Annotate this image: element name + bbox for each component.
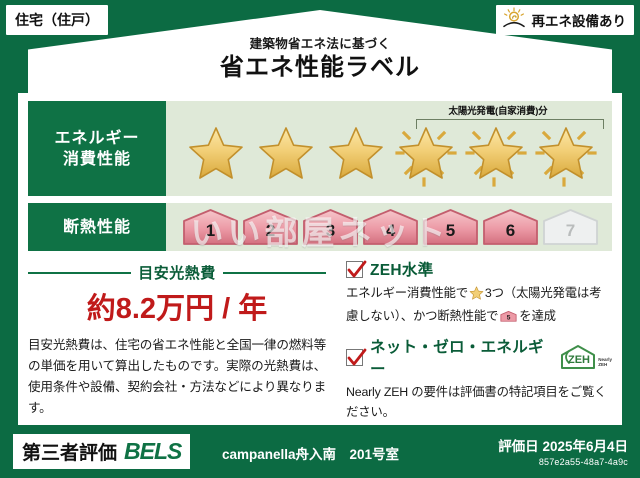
insulation-level: 5 [421,208,480,247]
net-zero-energy-title: ネット・ゼロ・エネルギー [370,335,548,379]
svg-text:ZEH: ZEH [568,354,590,366]
renewable-equipment-badge: 再エネ設備あり [496,5,635,35]
net-zero-energy-desc: Nearly ZEH の要件は評価書の特記項目をご覧ください。 [346,382,612,422]
evaluation-info: 評価日 2025年6月4日 857e2a55-48a7-4a9c [498,435,628,467]
star-filled [322,117,390,187]
property-name: campanella舟入南 201号室 [222,443,399,463]
zeh-logo-caption-line2: ZEH [598,362,607,367]
utility-cost-value: 約8.2万円 / 年 [28,289,326,329]
star-rating [182,117,600,187]
zeh-block: ZEH水準 エネルギー消費性能で3つ（太陽光発電は考慮しない）、かつ断熱性能で5… [334,258,612,416]
energy-performance-row: エネルギー 消費性能 太陽光発電(自家消費)分 [28,101,612,196]
label-lower-section: 目安光熱費 約8.2万円 / 年 目安光熱費は、住宅の省エネ性能と全国一律の燃料… [28,258,612,416]
insulation-badge-icon: 5 [500,313,517,327]
divider-left [28,272,131,274]
net-zero-energy-item: ネット・ゼロ・エネルギー ZEH Nearly ZEH [346,335,612,422]
energy-performance-label: 住宅（住戸） 再エネ設備あり [0,0,640,478]
zeh-logo-caption: Nearly ZEH [598,357,612,370]
insulation-level: 2 [241,208,300,247]
insulation-level: 3 [301,208,360,247]
star-icon [469,289,484,303]
divider-right [223,272,326,274]
insulation-performance-row: 断熱性能 1 [28,203,612,251]
dwelling-type-label: 住宅（住戸） [15,10,99,30]
check-icon [346,349,363,366]
zeh-standard-title: ZEH水準 [370,258,434,280]
label-header: 住宅（住戸） 再エネ設備あり [0,0,640,96]
insulation-level: 1 [181,208,240,247]
insulation-level-scale: 1 2 3 [181,208,600,247]
label-title: 省エネ性能ラベル [0,53,640,83]
insulation-performance-body: 1 2 3 [166,203,612,251]
bels-logo-jp: 第三者評価 [22,438,117,465]
header-titles: 建築物省エネ法に基づく 省エネ性能ラベル [0,36,640,83]
sun-icon [501,7,527,34]
label-subtitle: 建築物省エネ法に基づく [0,36,640,52]
insulation-performance-label: 断熱性能 [28,203,166,251]
solar-bracket-label: 太陽光発電(自家消費)分 [398,103,598,117]
utility-cost-heading: 目安光熱費 [28,262,326,283]
zeh-standard-desc: エネルギー消費性能で3つ（太陽光発電は考慮しない）、かつ断熱性能で5を達成 [346,283,612,330]
insulation-level-number: 5 [421,221,480,241]
zeh-standard-title-line: ZEH水準 [346,258,612,280]
star-solar [392,117,460,187]
check-icon [346,261,363,278]
evaluation-id: 857e2a55-48a7-4a9c [498,457,628,467]
zeh-house-logo: ZEH Nearly ZEH [559,344,612,370]
energy-performance-label: エネルギー 消費性能 [28,101,166,196]
star-filled [252,117,320,187]
evaluation-date: 評価日 2025年6月4日 [498,435,628,455]
insulation-level-number: 3 [301,221,360,241]
dwelling-type-badge: 住宅（住戸） [6,5,108,35]
bels-logo: 第三者評価 BELS [13,434,190,469]
insulation-level-inactive: 7 [541,208,600,247]
star-solar [462,117,530,187]
zeh-desc-part3: を達成 [519,309,556,323]
net-zero-energy-title-line: ネット・ゼロ・エネルギー ZEH Nearly ZEH [346,335,612,379]
utility-cost-title: 目安光熱費 [138,262,216,283]
star-filled [182,117,250,187]
bels-logo-en: BELS [124,438,181,465]
energy-performance-body: 太陽光発電(自家消費)分 [166,101,612,196]
insulation-level: 4 [361,208,420,247]
insulation-level-number: 6 [481,221,540,241]
insulation-level-number: 7 [541,221,600,241]
star-solar [532,117,600,187]
renewable-equipment-label: 再エネ設備あり [532,10,627,30]
utility-cost-block: 目安光熱費 約8.2万円 / 年 目安光熱費は、住宅の省エネ性能と全国一律の燃料… [28,258,334,416]
insulation-level-number: 1 [181,221,240,241]
zeh-desc-part1: エネルギー消費性能で [346,286,468,300]
svg-text:5: 5 [507,315,511,322]
label-card: エネルギー 消費性能 太陽光発電(自家消費)分 [18,93,622,425]
insulation-level-number: 4 [361,221,420,241]
insulation-level-number: 2 [241,221,300,241]
label-footer: 第三者評価 BELS campanella舟入南 201号室 評価日 2025年… [0,426,640,478]
insulation-level: 6 [481,208,540,247]
zeh-standard-item: ZEH水準 エネルギー消費性能で3つ（太陽光発電は考慮しない）、かつ断熱性能で5… [346,258,612,330]
utility-cost-note: 目安光熱費は、住宅の省エネ性能と全国一律の燃料等の単価を用いて算出したものです。… [28,335,326,419]
